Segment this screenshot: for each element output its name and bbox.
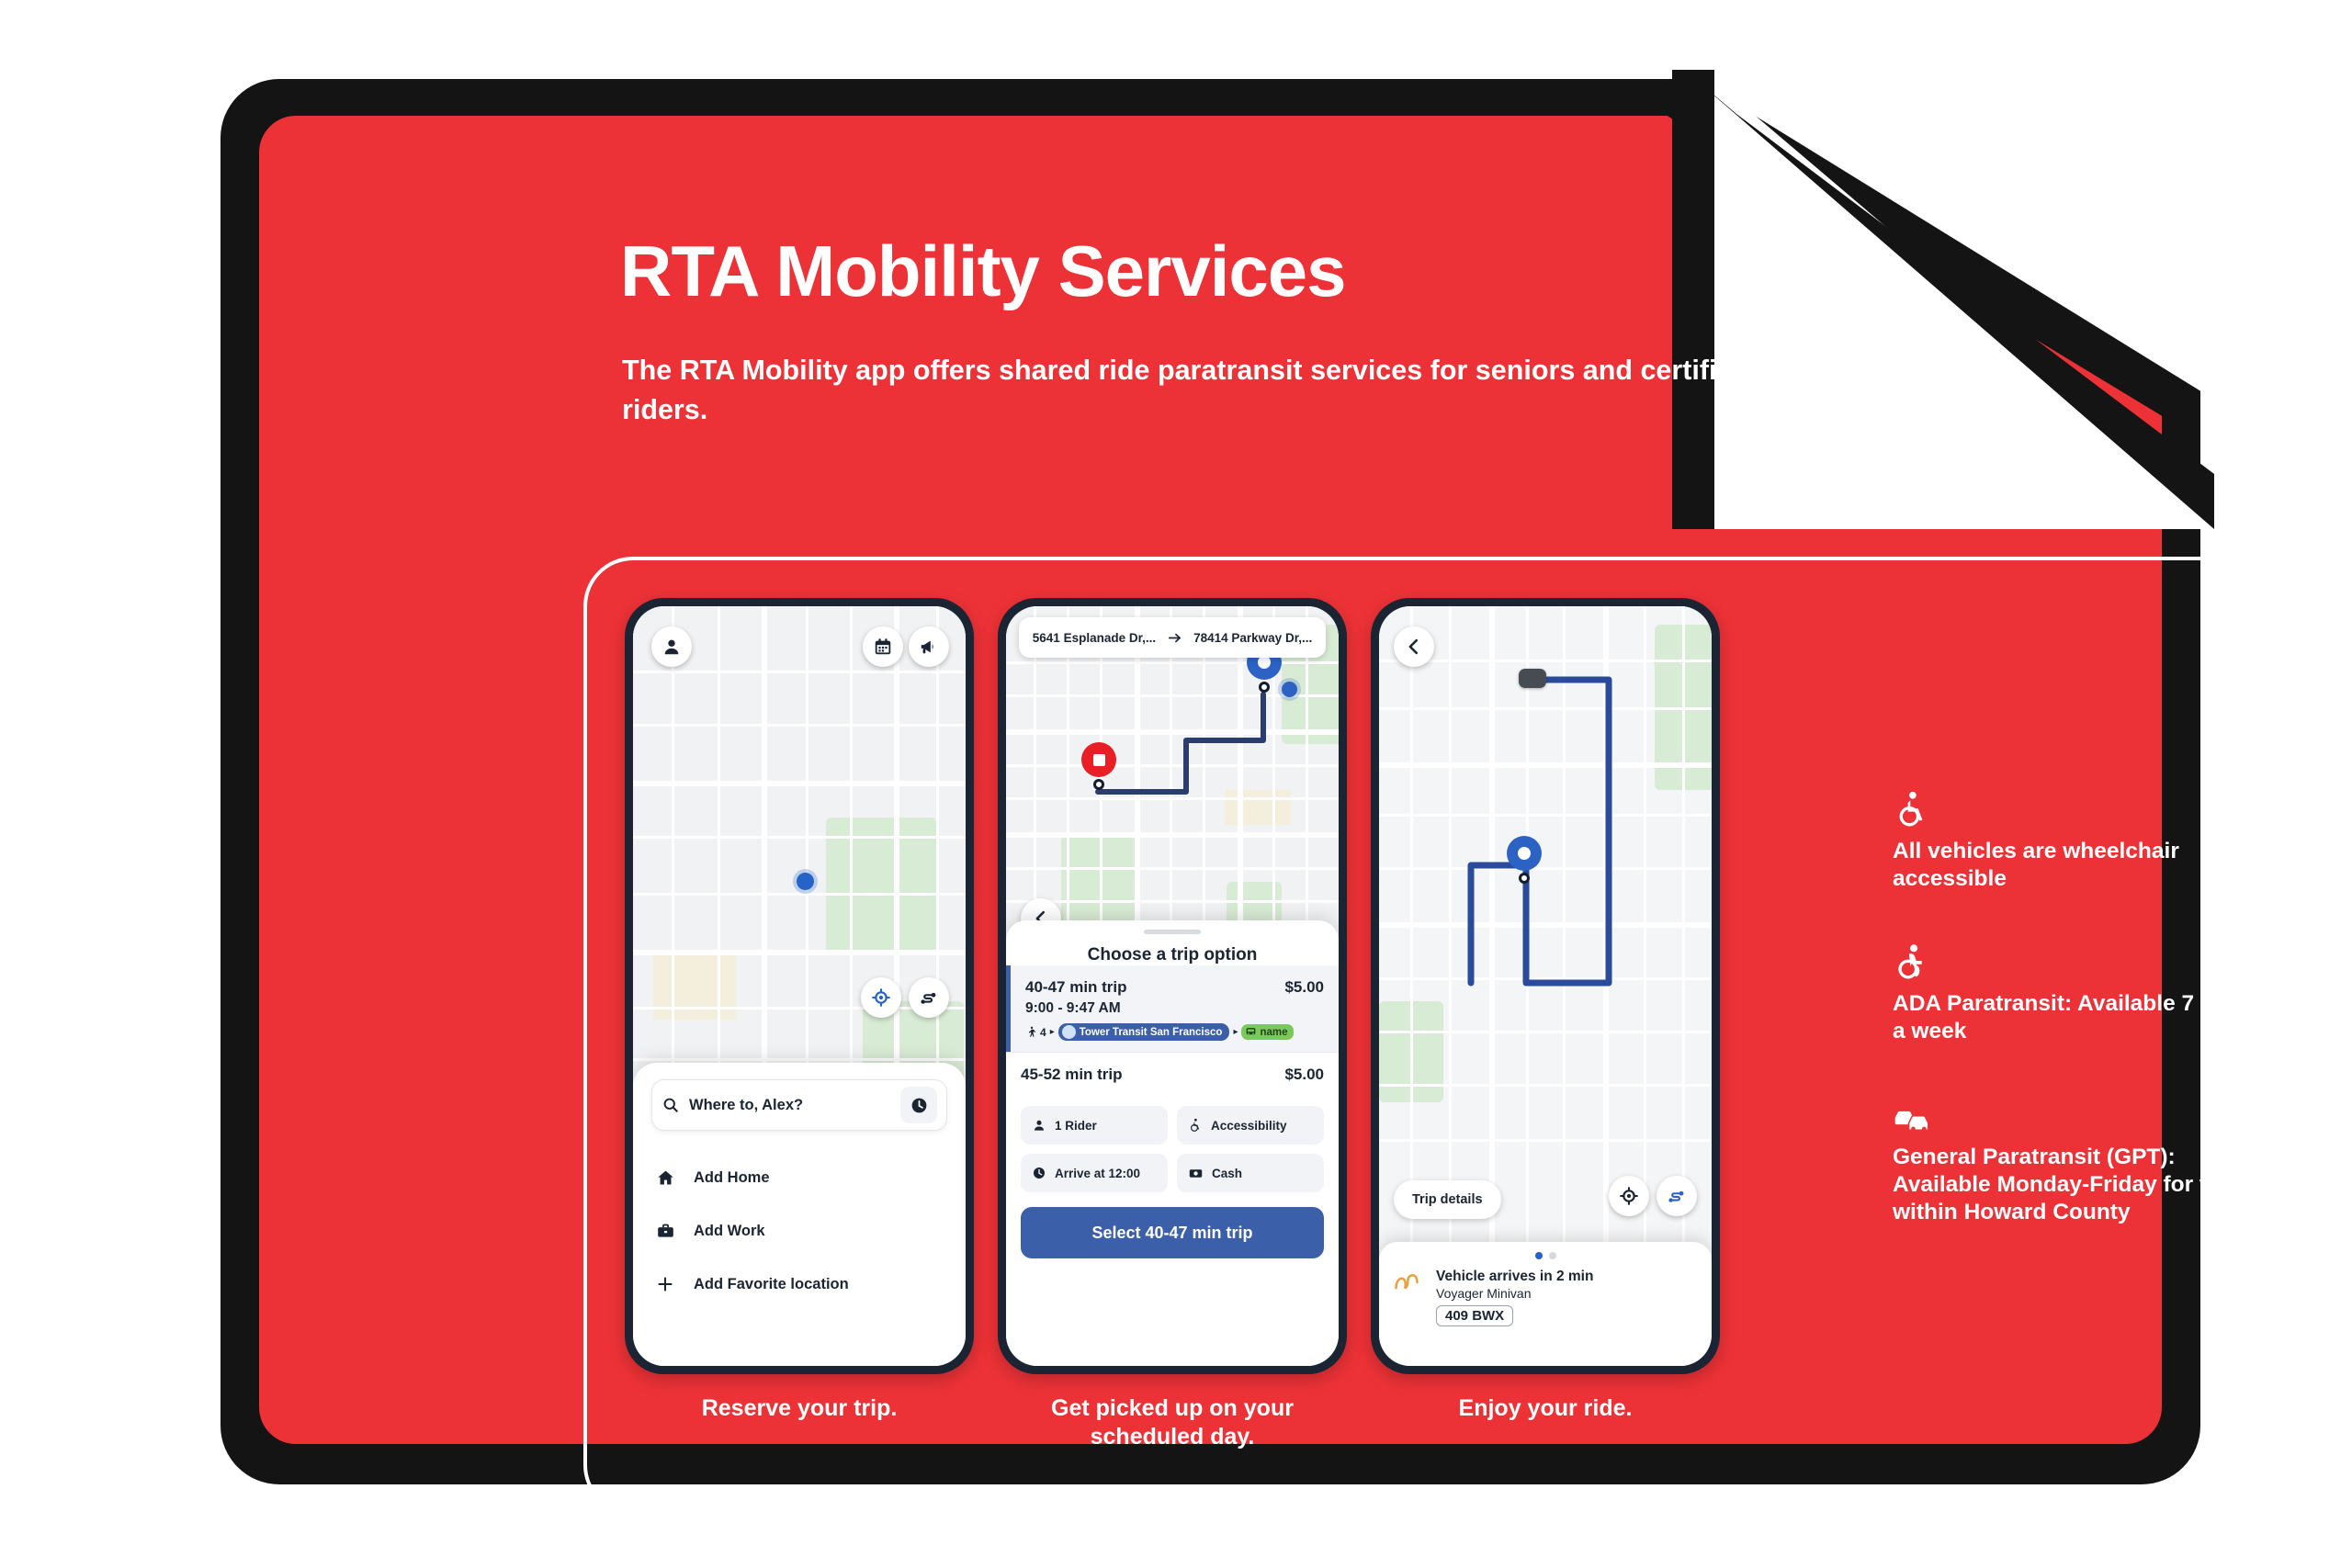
rider-pin bbox=[1507, 836, 1542, 884]
leg-separator-icon: ▸ bbox=[1050, 1027, 1055, 1037]
schedule-button[interactable] bbox=[863, 626, 903, 667]
origin-address: 5641 Esplanade Dr,... bbox=[1033, 631, 1156, 645]
phone2-screen: 5641 Esplanade Dr,... 78414 Parkway Dr,.… bbox=[1006, 606, 1339, 1366]
locate-me-button[interactable] bbox=[861, 977, 901, 1018]
select-trip-button[interactable]: Select 40-47 min trip bbox=[1021, 1207, 1324, 1258]
phone-mockups: Where to, Alex? Add Home bbox=[625, 598, 1837, 1374]
clock-icon bbox=[910, 1096, 929, 1115]
sheet-title: Choose a trip option bbox=[1006, 945, 1339, 965]
sheet-pager[interactable] bbox=[1379, 1242, 1712, 1259]
transit-leg-badge: Tower Transit San Francisco bbox=[1058, 1023, 1230, 1041]
profile-button[interactable] bbox=[651, 626, 692, 667]
walk-minutes: 4 bbox=[1040, 1026, 1046, 1039]
vehicle-status-sheet: Vehicle arrives in 2 min Voyager Minivan… bbox=[1379, 1242, 1712, 1366]
page-subtitle: The RTA Mobility app offers shared ride … bbox=[622, 351, 1862, 431]
bus-leg-label: name bbox=[1260, 1027, 1287, 1038]
destination-address: 78414 Parkway Dr,... bbox=[1193, 631, 1312, 645]
caption-enjoy: Enjoy your ride. bbox=[1371, 1394, 1720, 1452]
phone-enjoy-ride: Trip details bbox=[1371, 598, 1720, 1374]
phone3-route-button[interactable] bbox=[1657, 1176, 1697, 1216]
locate-icon bbox=[1619, 1186, 1639, 1206]
transit-agency-icon bbox=[1062, 1025, 1076, 1039]
pager-dot[interactable] bbox=[1549, 1252, 1556, 1259]
megaphone-icon bbox=[919, 637, 939, 657]
vehicle-eta: Vehicle arrives in 2 min bbox=[1436, 1269, 1593, 1285]
home-icon bbox=[653, 1168, 677, 1188]
trip-duration: 40-47 min trip bbox=[1025, 978, 1127, 997]
step-captions: Reserve your trip. Get picked up on your… bbox=[625, 1394, 1837, 1452]
folded-card: RTA Mobility Services The RTA Mobility a… bbox=[220, 79, 2200, 1484]
favorite-label: Add Home bbox=[694, 1169, 770, 1187]
arrow-right-icon bbox=[1167, 630, 1182, 646]
search-input[interactable]: Where to, Alex? bbox=[651, 1079, 947, 1131]
caption-pickup: Get picked up on your scheduled day. bbox=[998, 1394, 1347, 1452]
chevron-left-icon bbox=[1404, 637, 1424, 657]
favorite-label: Add Work bbox=[694, 1223, 765, 1240]
accessible-forward-icon bbox=[1893, 939, 2260, 981]
favorite-add-location[interactable]: Add Favorite location bbox=[653, 1258, 949, 1311]
feature-gpt: General Paratransit (GPT): Available Mon… bbox=[1893, 1092, 2260, 1226]
cars-icon bbox=[1893, 1092, 2260, 1134]
poster-canvas: RTA Mobility Services The RTA Mobility a… bbox=[0, 0, 2352, 1568]
vehicle-model: Voyager Minivan bbox=[1436, 1286, 1593, 1301]
secondary-stop-dot bbox=[1282, 682, 1297, 697]
trip-price: $5.00 bbox=[1284, 1066, 1324, 1084]
license-plate: 409 BWX bbox=[1436, 1305, 1513, 1326]
transit-leg-label: Tower Transit San Francisco bbox=[1080, 1027, 1223, 1038]
vehicle-info-row: Vehicle arrives in 2 min Voyager Minivan… bbox=[1379, 1259, 1712, 1326]
person-icon bbox=[661, 637, 682, 657]
trip-options-sheet: Choose a trip option 40-47 min trip $5.0… bbox=[1006, 920, 1339, 1366]
walk-icon bbox=[1025, 1025, 1037, 1039]
feature-text: ADA Paratransit: Available 7 days a week bbox=[1893, 990, 2260, 1045]
chip-arrival-time[interactable]: Arrive at 12:00 bbox=[1021, 1154, 1168, 1192]
trip-settings-chips: 1 Rider Accessibility Arrive at 12:00 bbox=[1006, 1095, 1339, 1192]
feature-list: All vehicles are wheelchair accessible A… bbox=[1893, 786, 2260, 1272]
destination-pin bbox=[1081, 742, 1116, 790]
phone3-screen: Trip details bbox=[1379, 606, 1712, 1366]
search-icon bbox=[661, 1096, 680, 1114]
chip-payment[interactable]: Cash bbox=[1177, 1154, 1324, 1192]
route-icon bbox=[919, 987, 939, 1008]
calendar-icon bbox=[873, 637, 893, 657]
trip-duration: 45-52 min trip bbox=[1021, 1066, 1123, 1084]
vehicle-marker-icon bbox=[1519, 669, 1546, 688]
chip-riders[interactable]: 1 Rider bbox=[1021, 1106, 1168, 1145]
trip-price: $5.00 bbox=[1284, 978, 1324, 997]
route-button[interactable] bbox=[909, 977, 949, 1018]
wheelchair-icon bbox=[1188, 1118, 1203, 1133]
chip-label: 1 Rider bbox=[1055, 1119, 1097, 1133]
wheelchair-icon bbox=[1893, 786, 2260, 829]
schedule-later-button[interactable] bbox=[900, 1087, 937, 1123]
chip-label: Arrive at 12:00 bbox=[1055, 1167, 1140, 1180]
trip-option-row[interactable]: 40-47 min trip $5.00 9:00 - 9:47 AM 4 ▸ bbox=[1006, 965, 1339, 1052]
phone1-screen: Where to, Alex? Add Home bbox=[633, 606, 966, 1366]
sheet-grabber[interactable] bbox=[1144, 930, 1201, 934]
caption-reserve: Reserve your trip. bbox=[625, 1394, 974, 1452]
cash-icon bbox=[1188, 1166, 1204, 1181]
walk-leg: 4 bbox=[1025, 1025, 1046, 1039]
pager-dot-active[interactable] bbox=[1535, 1252, 1543, 1259]
favorite-add-home[interactable]: Add Home bbox=[653, 1151, 949, 1204]
feature-text: All vehicles are wheelchair accessible bbox=[1893, 838, 2260, 893]
plus-icon bbox=[653, 1274, 677, 1294]
phone3-locate-button[interactable] bbox=[1609, 1176, 1649, 1216]
vehicle-logo-icon bbox=[1394, 1269, 1425, 1296]
folded-corner bbox=[1580, 70, 2242, 529]
bus-leg-badge: name bbox=[1241, 1024, 1293, 1040]
chip-label: Cash bbox=[1212, 1167, 1242, 1180]
route-icon bbox=[1667, 1186, 1687, 1206]
favorite-label: Add Favorite location bbox=[694, 1276, 849, 1293]
chip-label: Accessibility bbox=[1211, 1119, 1287, 1133]
feature-wheelchair: All vehicles are wheelchair accessible bbox=[1893, 786, 2260, 893]
phone3-back-button[interactable] bbox=[1394, 626, 1434, 667]
clock-icon bbox=[1032, 1166, 1046, 1180]
bus-icon bbox=[1245, 1026, 1257, 1038]
address-bar[interactable]: 5641 Esplanade Dr,... 78414 Parkway Dr,.… bbox=[1019, 617, 1326, 658]
phone-reserve: Where to, Alex? Add Home bbox=[625, 598, 974, 1374]
chip-accessibility[interactable]: Accessibility bbox=[1177, 1106, 1324, 1145]
trip-details-button[interactable]: Trip details bbox=[1394, 1180, 1501, 1219]
locate-icon bbox=[871, 987, 891, 1008]
phone1-bottom-sheet: Where to, Alex? Add Home bbox=[633, 1063, 966, 1366]
feature-text: General Paratransit (GPT): Available Mon… bbox=[1893, 1144, 2260, 1226]
briefcase-icon bbox=[653, 1222, 677, 1241]
trip-option-row[interactable]: 45-52 min trip $5.00 bbox=[1006, 1053, 1339, 1095]
announcements-button[interactable] bbox=[909, 626, 949, 667]
search-placeholder: Where to, Alex? bbox=[689, 1097, 891, 1114]
trip-window: 9:00 - 9:47 AM bbox=[1025, 1000, 1324, 1017]
favorite-add-work[interactable]: Add Work bbox=[653, 1204, 949, 1258]
feature-ada: ADA Paratransit: Available 7 days a week bbox=[1893, 939, 2260, 1045]
trip-legs: 4 ▸ Tower Transit San Francisco ▸ bbox=[1025, 1023, 1324, 1041]
page-title: RTA Mobility Services bbox=[620, 235, 1346, 307]
favorites-list: Add Home Add Work bbox=[653, 1151, 949, 1311]
phone-trip-options: 5641 Esplanade Dr,... 78414 Parkway Dr,.… bbox=[998, 598, 1347, 1374]
leg-separator-icon: ▸ bbox=[1233, 1027, 1238, 1037]
user-location-dot bbox=[797, 873, 814, 890]
person-icon bbox=[1032, 1118, 1046, 1133]
